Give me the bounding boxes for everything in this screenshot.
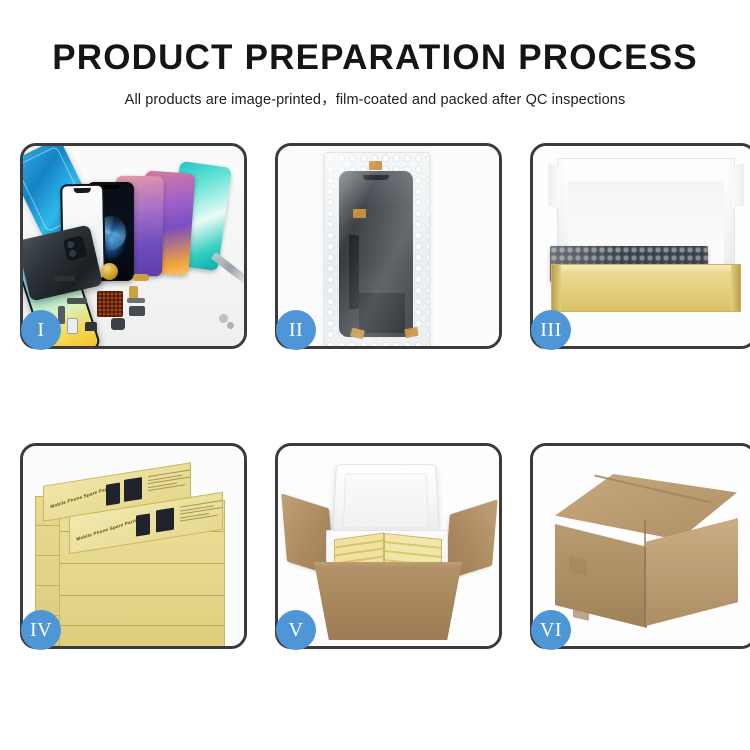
- lid-flap-right: [732, 163, 744, 208]
- box-base: [551, 264, 741, 312]
- spare-part: [219, 314, 228, 323]
- spec-lines: [180, 500, 222, 525]
- foam-lid: [332, 464, 440, 538]
- spare-part: [67, 318, 78, 334]
- screen-thumbnail: [106, 483, 120, 506]
- camera-lens-ring: [101, 263, 118, 280]
- phone-notch: [102, 185, 120, 189]
- box-lip: [552, 265, 740, 274]
- page-subtitle: All products are image-printed，film-coat…: [0, 88, 750, 109]
- poster-header: PRODUCT PREPARATION PROCESS All products…: [0, 0, 750, 109]
- box-label-text: Mobile Phone Spare Parts: [50, 485, 112, 509]
- process-step-grid: I II: [20, 143, 730, 649]
- phone-back-housing: [23, 224, 103, 301]
- step-panel-3: III: [530, 143, 750, 349]
- carton-left-face: [555, 524, 647, 628]
- carton-vertical-edge: [644, 520, 646, 626]
- screen-thumbnail: [136, 513, 150, 536]
- box-edge-left: [552, 265, 561, 311]
- step-badge-6: VI: [531, 610, 571, 650]
- spare-part: [53, 276, 75, 281]
- step-badge-5: V: [276, 610, 316, 650]
- poster-page: PRODUCT PREPARATION PROCESS All products…: [0, 0, 750, 750]
- step-panel-5: V: [275, 443, 502, 649]
- screen-thumbnail: [124, 477, 142, 502]
- step-panel-2: II: [275, 143, 502, 349]
- spare-part: [67, 298, 87, 304]
- step-badge-4: IV: [21, 610, 61, 650]
- screen-thumbnail: [156, 508, 174, 533]
- step-panel-4: Mobile Phone Spare Parts Mobile Phone Sp…: [20, 443, 247, 649]
- box-stack: Mobile Phone Spare Parts Mobile Phone Sp…: [31, 460, 243, 646]
- plastic-gloss: [325, 153, 429, 346]
- lid-flap-left: [548, 163, 560, 208]
- spare-part: [127, 298, 145, 303]
- spare-part: [111, 318, 125, 330]
- spare-part: [133, 274, 149, 281]
- camera-module: [63, 235, 87, 261]
- spare-part: [85, 322, 97, 331]
- step-panel-6: VI: [530, 443, 750, 649]
- bubble-wrap-bag: [324, 152, 430, 346]
- spare-part: [129, 306, 145, 316]
- step-badge-2: II: [276, 310, 316, 350]
- step-badge-3: III: [531, 310, 571, 350]
- phone-notch: [74, 188, 91, 193]
- page-title: PRODUCT PREPARATION PROCESS: [0, 40, 750, 77]
- carton-tape-patch: [573, 602, 589, 621]
- shipping-carton-open: [314, 562, 462, 640]
- copper-contact-grid: [97, 291, 123, 317]
- spare-part: [227, 322, 234, 329]
- step-panel-1: I: [20, 143, 247, 349]
- step-badge-1: I: [21, 310, 61, 350]
- box-edge-right: [731, 265, 740, 311]
- box-label-text: Mobile Phone Spare Parts: [76, 518, 138, 542]
- spec-lines: [148, 469, 190, 494]
